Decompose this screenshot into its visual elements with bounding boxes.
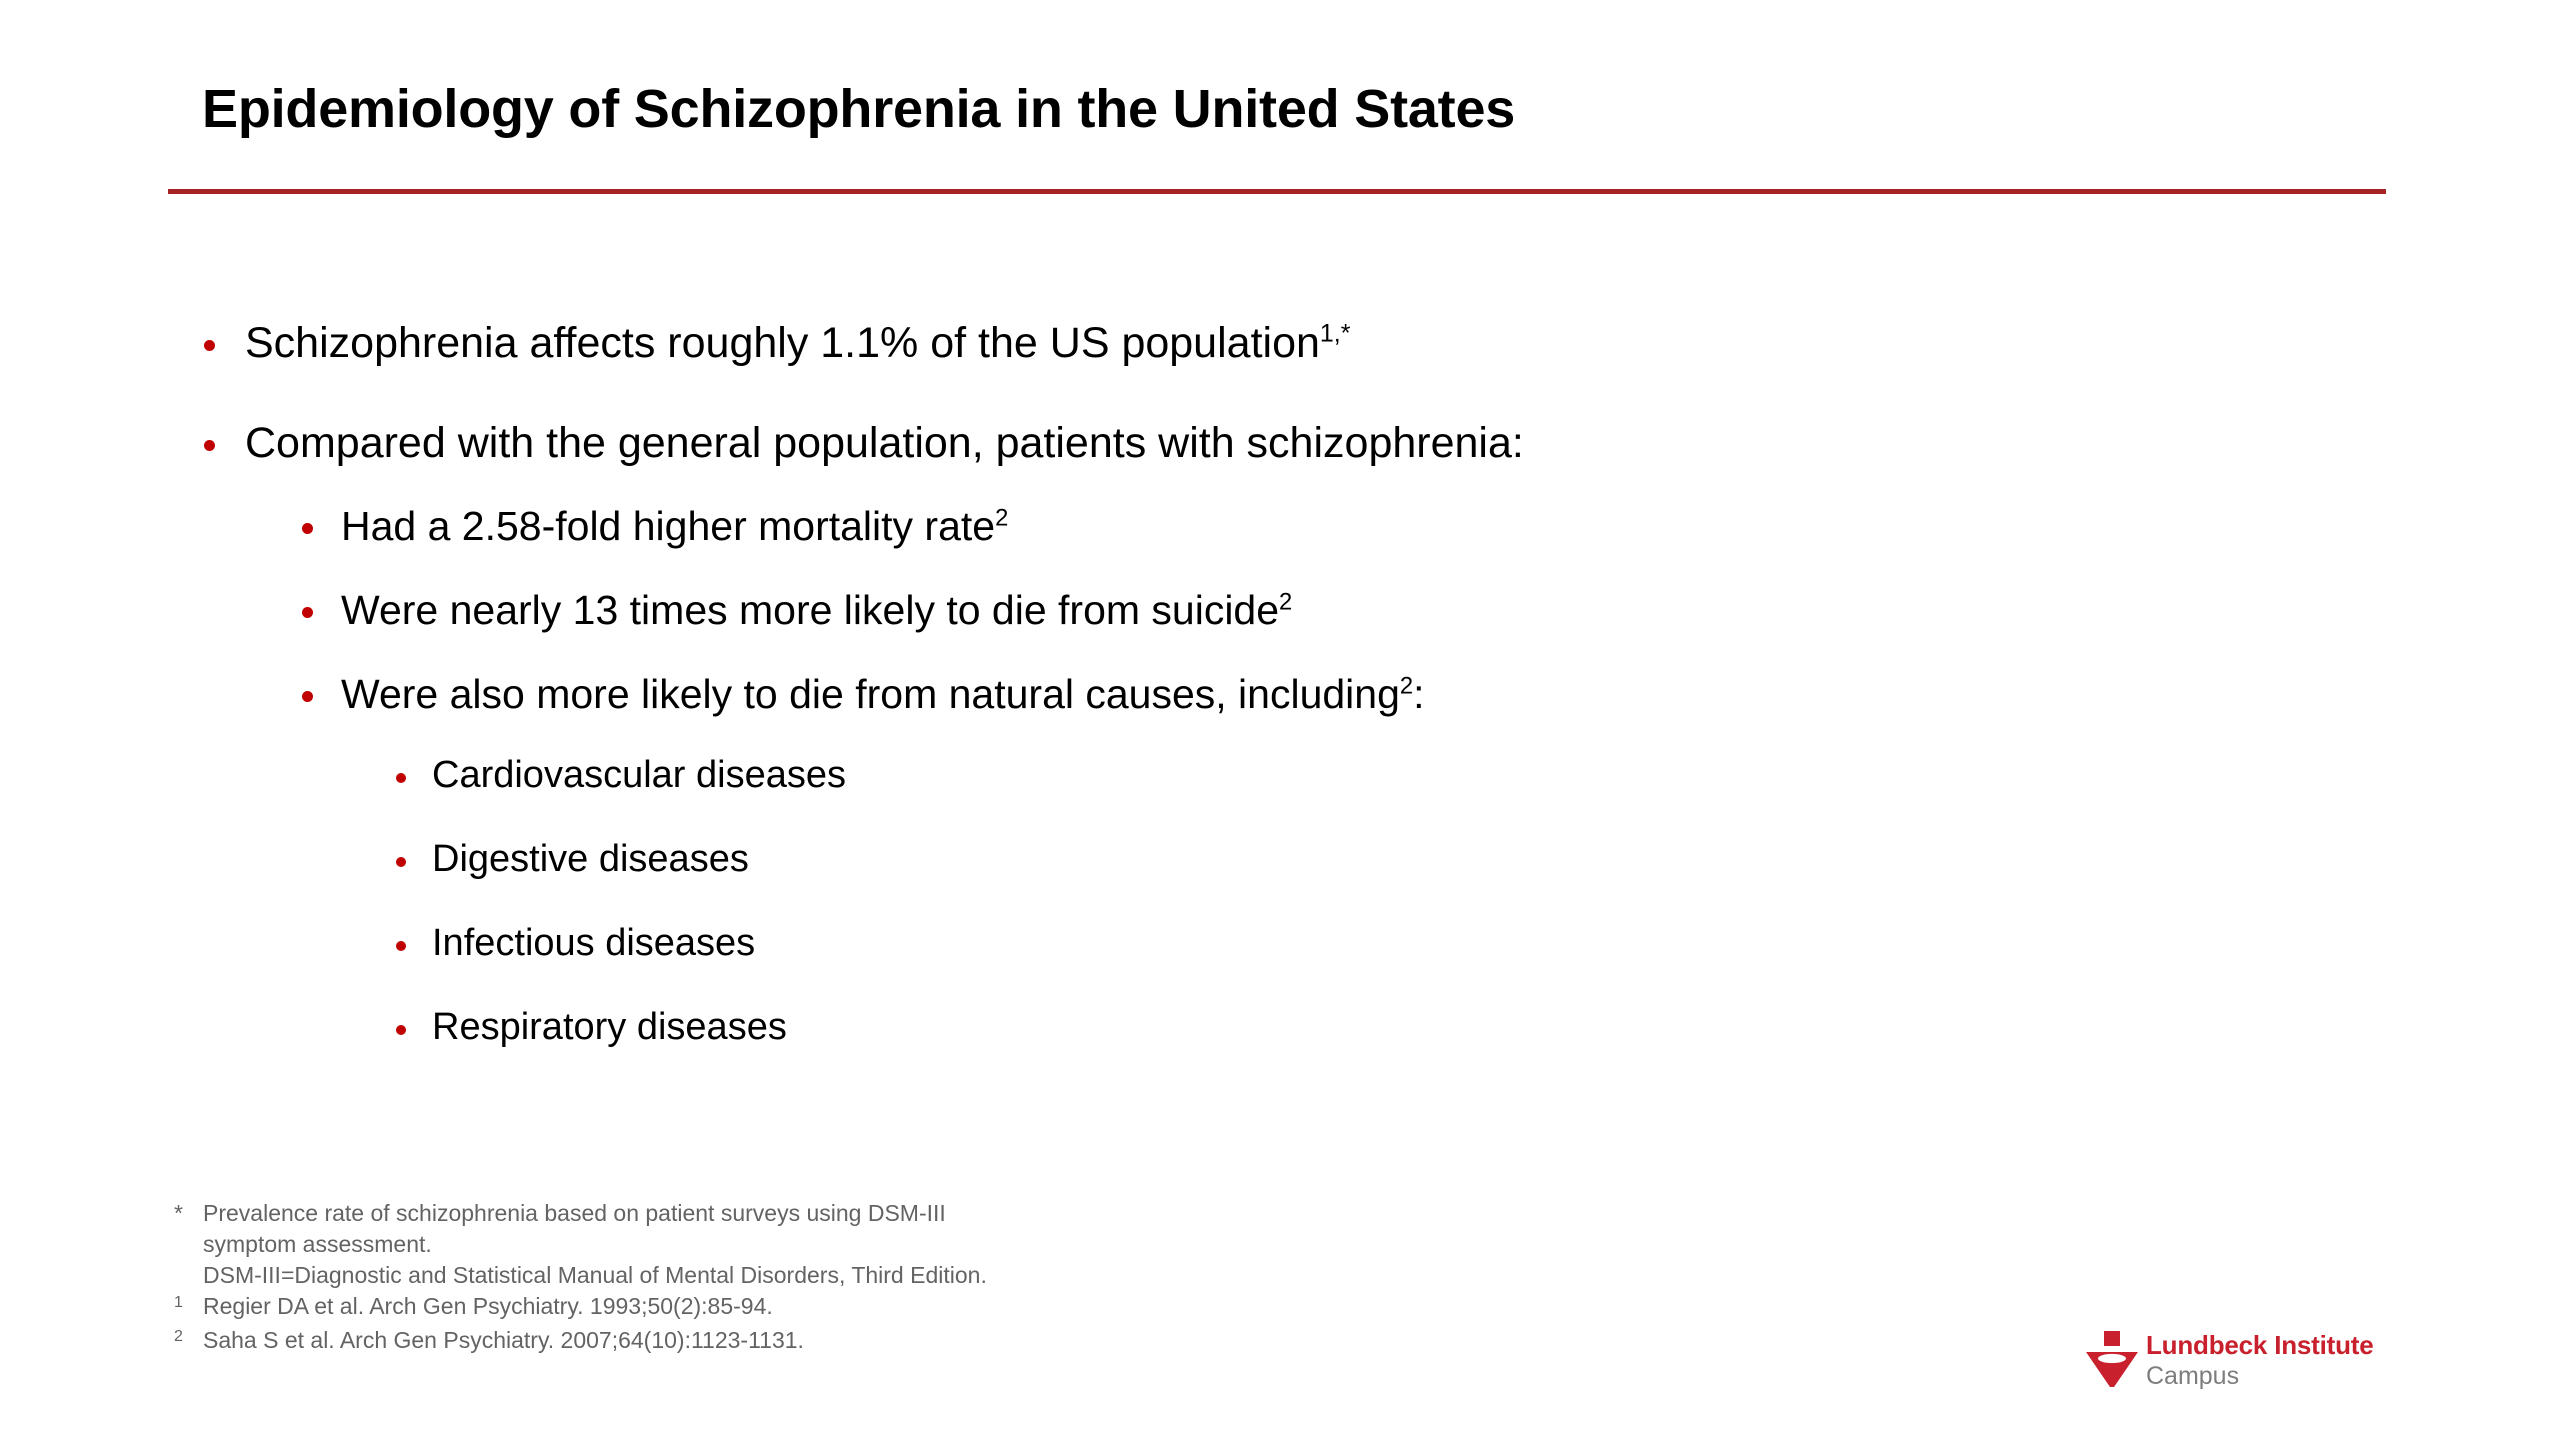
list-item-label: Digestive diseases <box>432 837 749 882</box>
footnote-line: DSM-III=Diagnostic and Statistical Manua… <box>174 1260 987 1291</box>
list-item-label: Infectious diseases <box>432 921 755 966</box>
list-item-label: Cardiovascular diseases <box>432 753 846 798</box>
bullet-dot-icon <box>396 857 406 867</box>
list-item: Had a 2.58-fold higher mortality rate2 <box>302 502 1008 550</box>
footnote-line: 2 Saha S et al. Arch Gen Psychiatry. 200… <box>174 1325 987 1359</box>
page-title: Epidemiology of Schizophrenia in the Uni… <box>202 78 1515 140</box>
list-item: Schizophrenia affects roughly 1.1% of th… <box>204 318 1350 368</box>
list-item: Digestive diseases <box>396 837 749 882</box>
bullet-dot-icon <box>396 941 406 951</box>
footnote-text: Saha S et al. Arch Gen Psychiatry. 2007;… <box>203 1325 804 1356</box>
bullet-dot-icon <box>396 773 406 783</box>
footnote-ref: 1,* <box>1320 320 1351 348</box>
list-item-label: Schizophrenia affects roughly 1.1% of th… <box>245 318 1350 368</box>
footnote-ref: 2 <box>1400 672 1413 699</box>
footnote-line: symptom assessment. <box>174 1229 987 1260</box>
list-item: Respiratory diseases <box>396 1005 787 1050</box>
footnote-ref: 2 <box>1279 588 1292 615</box>
list-item-label: Compared with the general population, pa… <box>245 418 1524 468</box>
slide-canvas: Epidemiology of Schizophrenia in the Uni… <box>0 0 2560 1440</box>
title-divider <box>168 189 2386 194</box>
list-item-label: Were also more likely to die from natura… <box>341 670 1425 718</box>
list-item: Infectious diseases <box>396 921 755 966</box>
footnote-text: DSM-III=Diagnostic and Statistical Manua… <box>203 1260 987 1291</box>
logo-wordmark: Lundbeck Institute Campus <box>2146 1330 2374 1391</box>
logo-title: Lundbeck Institute <box>2146 1330 2374 1360</box>
footnote-ref: 2 <box>995 504 1008 531</box>
footnote-marker: 1 <box>174 1287 203 1318</box>
bullet-dot-icon <box>302 523 313 534</box>
footnote-line: * Prevalence rate of schizophrenia based… <box>174 1198 987 1229</box>
bullet-dot-icon <box>302 607 313 618</box>
list-item: Compared with the general population, pa… <box>204 418 1524 468</box>
footnote-text: symptom assessment. <box>203 1229 432 1260</box>
list-item: Were also more likely to die from natura… <box>302 670 1425 718</box>
footnote-text: Regier DA et al. Arch Gen Psychiatry. 19… <box>203 1291 773 1322</box>
bullet-dot-icon <box>302 691 313 702</box>
lundbeck-institute-logo: Lundbeck Institute Campus <box>2084 1330 2424 1396</box>
bullet-dot-icon <box>204 440 215 451</box>
lundbeck-funnel-icon <box>2084 1330 2140 1388</box>
footnote-marker: * <box>174 1198 203 1229</box>
footnote-marker: 2 <box>174 1321 203 1352</box>
logo-subtitle: Campus <box>2146 1361 2374 1391</box>
list-item: Cardiovascular diseases <box>396 753 846 798</box>
list-item-label: Had a 2.58-fold higher mortality rate2 <box>341 502 1008 550</box>
footnote-block: * Prevalence rate of schizophrenia based… <box>174 1198 987 1359</box>
footnote-line: 1 Regier DA et al. Arch Gen Psychiatry. … <box>174 1291 987 1325</box>
bullet-dot-icon <box>396 1025 406 1035</box>
list-item-label: Were nearly 13 times more likely to die … <box>341 586 1292 634</box>
list-item: Were nearly 13 times more likely to die … <box>302 586 1292 634</box>
footnote-text: Prevalence rate of schizophrenia based o… <box>203 1198 946 1229</box>
list-item-label: Respiratory diseases <box>432 1005 787 1050</box>
bullet-dot-icon <box>204 340 215 351</box>
